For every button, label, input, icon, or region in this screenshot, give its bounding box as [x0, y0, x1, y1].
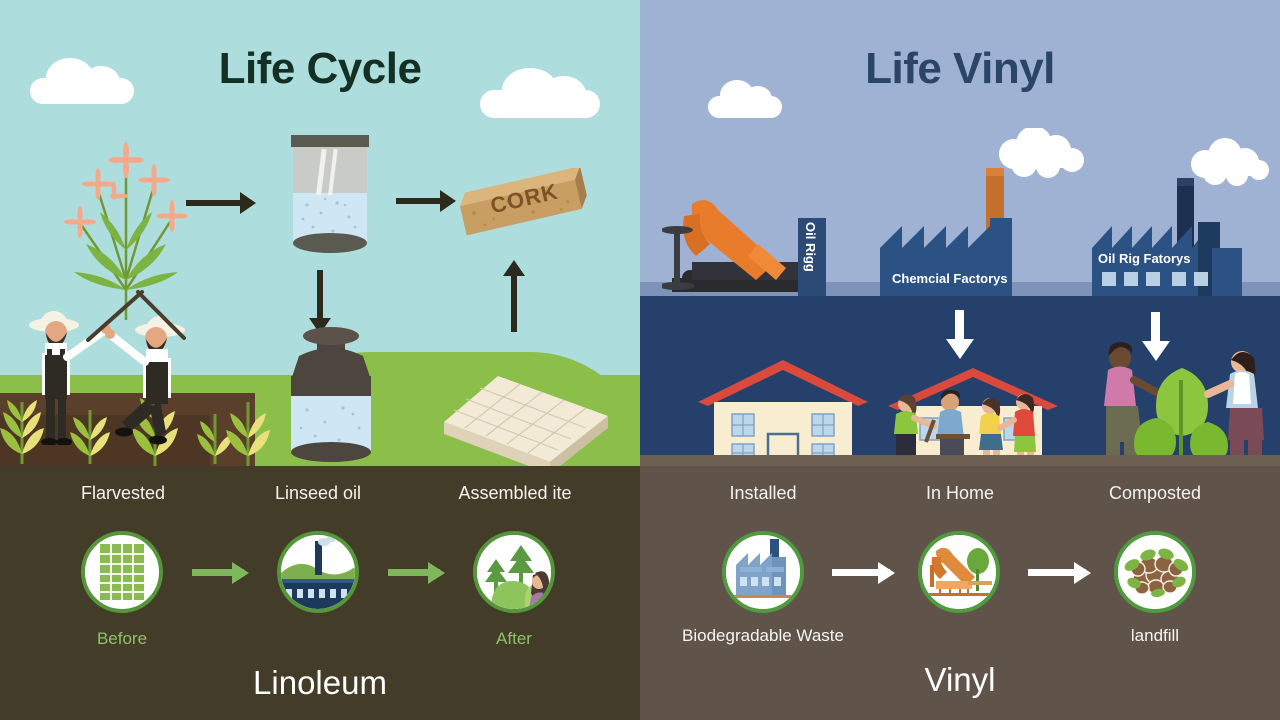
step-sub-landfill: landfill	[1040, 626, 1270, 646]
factory-landscape-icon	[281, 535, 355, 609]
trees-person-icon	[477, 535, 551, 609]
linoleum-tile-icon	[440, 370, 610, 470]
arrow-extract-to-tank	[317, 270, 323, 322]
step-icon-trees-person[interactable]	[473, 531, 555, 613]
infographic-canvas: CORK	[0, 0, 1280, 720]
house-icon	[688, 360, 878, 465]
arrow-factory-to-home	[955, 310, 964, 344]
step-sub-biodegradable-waste: Biodegradable Waste	[648, 626, 878, 646]
oil-rig-factory-label: Oil Rig Fatorys	[1098, 251, 1190, 266]
cloud-icon	[480, 90, 600, 118]
step-label-composted: Composted	[1040, 483, 1270, 504]
arrow-vstep2-to-vstep3	[1028, 569, 1086, 576]
arrow-step2-to-step3	[388, 569, 440, 576]
step-label-installed: Installed	[648, 483, 878, 504]
chemical-factory-label: Chemcial Factorys	[892, 271, 1008, 286]
oil-rig-label: Oil Rigg	[803, 222, 818, 272]
people-with-plant	[1090, 340, 1270, 465]
processing-tank-icon	[273, 318, 388, 463]
step-icon-factory[interactable]	[722, 531, 804, 613]
arrow-step1-to-step2	[192, 569, 244, 576]
arrow-extract-to-cork	[396, 198, 452, 204]
step-icon-factory-landscape[interactable]	[277, 531, 359, 613]
right-floor-strip	[640, 455, 1280, 466]
panel-vinyl: Oil Rigg Chemcial Factorys Oil Rig Fator…	[640, 0, 1280, 720]
cloud-icon	[708, 96, 782, 118]
compost-pile-icon	[1118, 535, 1192, 609]
extraction-cylinder-icon	[285, 135, 375, 260]
step-sub-after: After	[399, 629, 629, 649]
arrow-vstep1-to-vstep2	[832, 569, 890, 576]
arrow-tile-to-cork	[511, 272, 517, 332]
step-sub-before: Before	[7, 629, 237, 649]
pumpjack-tree-icon	[922, 535, 996, 609]
harvest-shears-icon	[84, 288, 204, 348]
product-name-linoleum: Linoleum	[0, 664, 640, 702]
product-name-vinyl: Vinyl	[640, 661, 1280, 699]
tile-grid-icon	[85, 535, 159, 609]
step-icon-tile-grid[interactable]	[81, 531, 163, 613]
factory-icon	[726, 535, 800, 609]
step-icon-pumpjack-tree[interactable]	[918, 531, 1000, 613]
arrow-harvest-to-extract	[186, 200, 252, 206]
panel-linoleum: CORK	[0, 0, 640, 720]
step-icon-compost-pile[interactable]	[1114, 531, 1196, 613]
cloud-icon	[30, 78, 134, 104]
step-label-assembled-ite: Assembled ite	[400, 483, 630, 504]
step-label-linseed-oil: Linseed oil	[203, 483, 433, 504]
